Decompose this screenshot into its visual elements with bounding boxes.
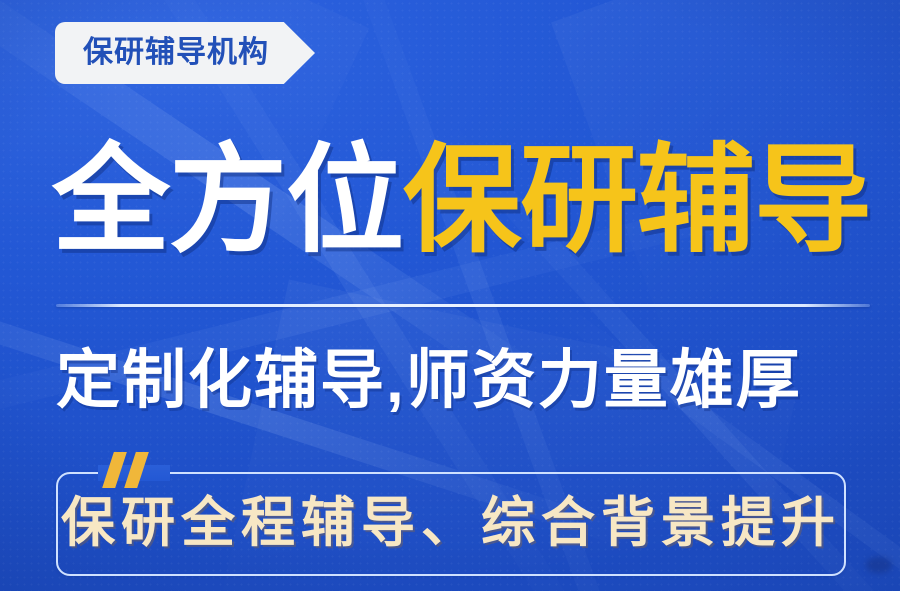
promo-poster: 保研辅导机构 全方位 保研辅导 定制化辅导,师资力量雄厚 保研全程辅导、综合背景…	[0, 0, 900, 591]
quote-slash-left	[102, 452, 127, 488]
corner-shadow-blob	[866, 557, 892, 573]
tagline-banner: 保研全程辅导、综合背景提升	[56, 472, 846, 576]
quote-mark-icon	[106, 452, 160, 488]
quote-slash-right	[124, 452, 149, 488]
headline-primary: 全方位	[52, 140, 403, 264]
page-title: 全方位 保研辅导	[52, 140, 871, 264]
subtitle: 定制化辅导,师资力量雄厚	[56, 344, 802, 418]
org-badge-label: 保研辅导机构	[83, 38, 269, 68]
headline-highlight: 保研辅导	[403, 140, 871, 264]
org-badge: 保研辅导机构	[55, 22, 315, 84]
section-divider	[56, 304, 870, 307]
tagline-text: 保研全程辅导、综合背景提升	[61, 494, 841, 553]
